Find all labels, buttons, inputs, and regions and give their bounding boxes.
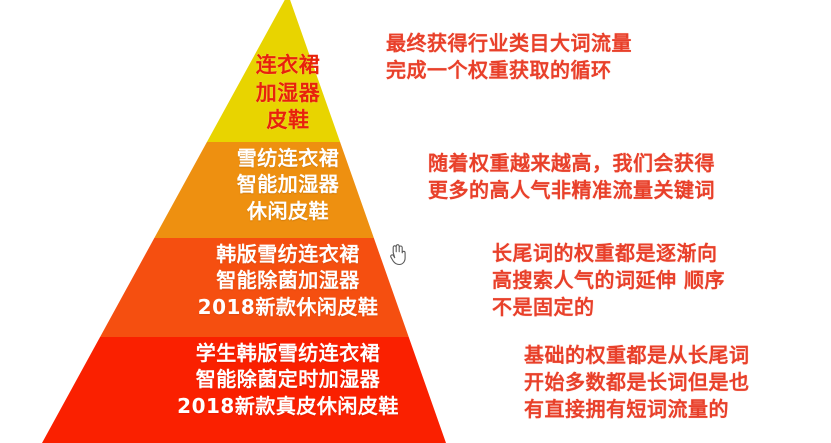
note-second-line-2: 更多的高人气非精准流量关键词 bbox=[428, 177, 715, 204]
note-bottom-line-3: 有直接拥有短词流量的 bbox=[524, 396, 750, 423]
pyramid-tier-2-shape bbox=[0, 142, 470, 238]
annotation-note-top: 最终获得行业类目大词流量 完成一个权重获取的循环 bbox=[386, 30, 632, 84]
note-top-line-2: 完成一个权重获取的循环 bbox=[386, 57, 632, 84]
note-top-line-1: 最终获得行业类目大词流量 bbox=[386, 30, 632, 57]
annotation-note-second: 随着权重越来越高，我们会获得 更多的高人气非精准流量关键词 bbox=[428, 150, 715, 204]
slide-canvas: 连衣裙 加湿器 皮鞋 雪纺连衣裙 智能加湿器 休闲皮鞋 韩版雪纺连衣裙 智能除菌… bbox=[0, 0, 831, 443]
note-third-line-3: 不是固定的 bbox=[492, 294, 725, 321]
pyramid-tier-4-shape bbox=[0, 337, 470, 443]
note-bottom-line-2: 开始多数都是长词但是也 bbox=[524, 369, 750, 396]
annotation-note-third: 长尾词的权重都是逐渐向 高搜索人气的词延伸 顺序 不是固定的 bbox=[492, 240, 725, 321]
note-second-line-1: 随着权重越来越高，我们会获得 bbox=[428, 150, 715, 177]
note-bottom-line-1: 基础的权重都是从长尾词 bbox=[524, 342, 750, 369]
annotation-note-bottom: 基础的权重都是从长尾词 开始多数都是长词但是也 有直接拥有短词流量的 bbox=[524, 342, 750, 423]
grab-hand-cursor-icon bbox=[388, 243, 408, 267]
note-third-line-2: 高搜索人气的词延伸 顺序 bbox=[492, 267, 725, 294]
note-third-line-1: 长尾词的权重都是逐渐向 bbox=[492, 240, 725, 267]
